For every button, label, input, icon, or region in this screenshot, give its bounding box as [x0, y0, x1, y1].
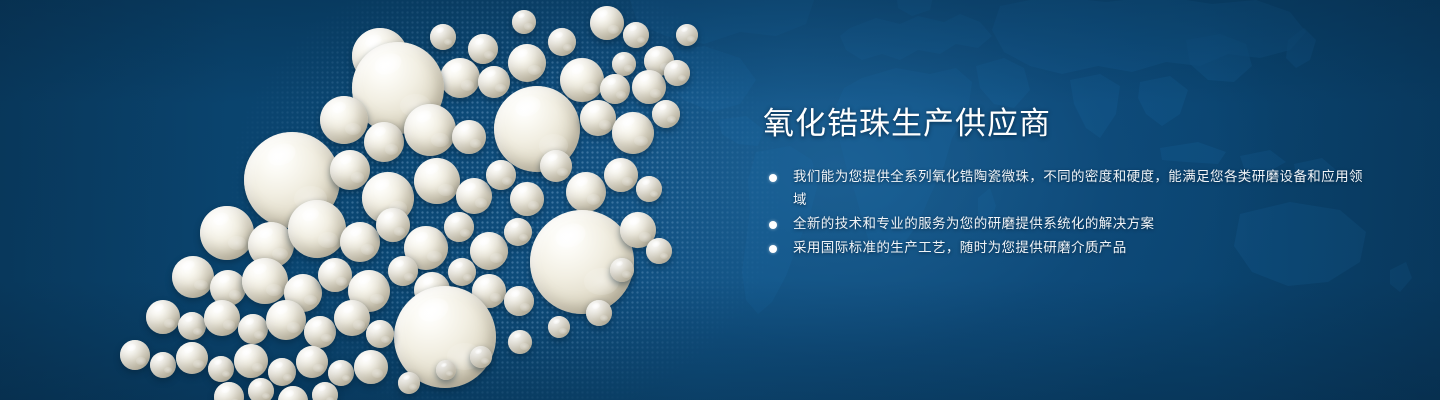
feature-list: 我们能为您提供全系列氧化锆陶瓷微珠，不同的密度和硬度，能满足您各类研磨设备和应用…	[763, 166, 1363, 260]
bullet-dot-icon	[769, 174, 777, 182]
bullet-dot-icon	[769, 221, 777, 229]
banner-content: 氧化锆珠生产供应商 我们能为您提供全系列氧化锆陶瓷微珠，不同的密度和硬度，能满足…	[763, 104, 1363, 261]
list-item: 采用国际标准的生产工艺，随时为您提供研磨介质产品	[763, 237, 1363, 260]
list-item: 我们能为您提供全系列氧化锆陶瓷微珠，不同的密度和硬度，能满足您各类研磨设备和应用…	[763, 166, 1363, 212]
bullet-dot-icon	[769, 245, 777, 253]
list-item-text: 全新的技术和专业的服务为您的研磨提供系统化的解决方案	[793, 216, 1154, 232]
list-item-text: 我们能为您提供全系列氧化锆陶瓷微珠，不同的密度和硬度，能满足您各类研磨设备和应用…	[793, 169, 1363, 208]
list-item-text: 采用国际标准的生产工艺，随时为您提供研磨介质产品	[793, 240, 1127, 256]
page-title: 氧化锆珠生产供应商	[763, 104, 1363, 144]
list-item: 全新的技术和专业的服务为您的研磨提供系统化的解决方案	[763, 213, 1363, 236]
hero-banner: 氧化锆珠生产供应商 我们能为您提供全系列氧化锆陶瓷微珠，不同的密度和硬度，能满足…	[0, 0, 1440, 400]
